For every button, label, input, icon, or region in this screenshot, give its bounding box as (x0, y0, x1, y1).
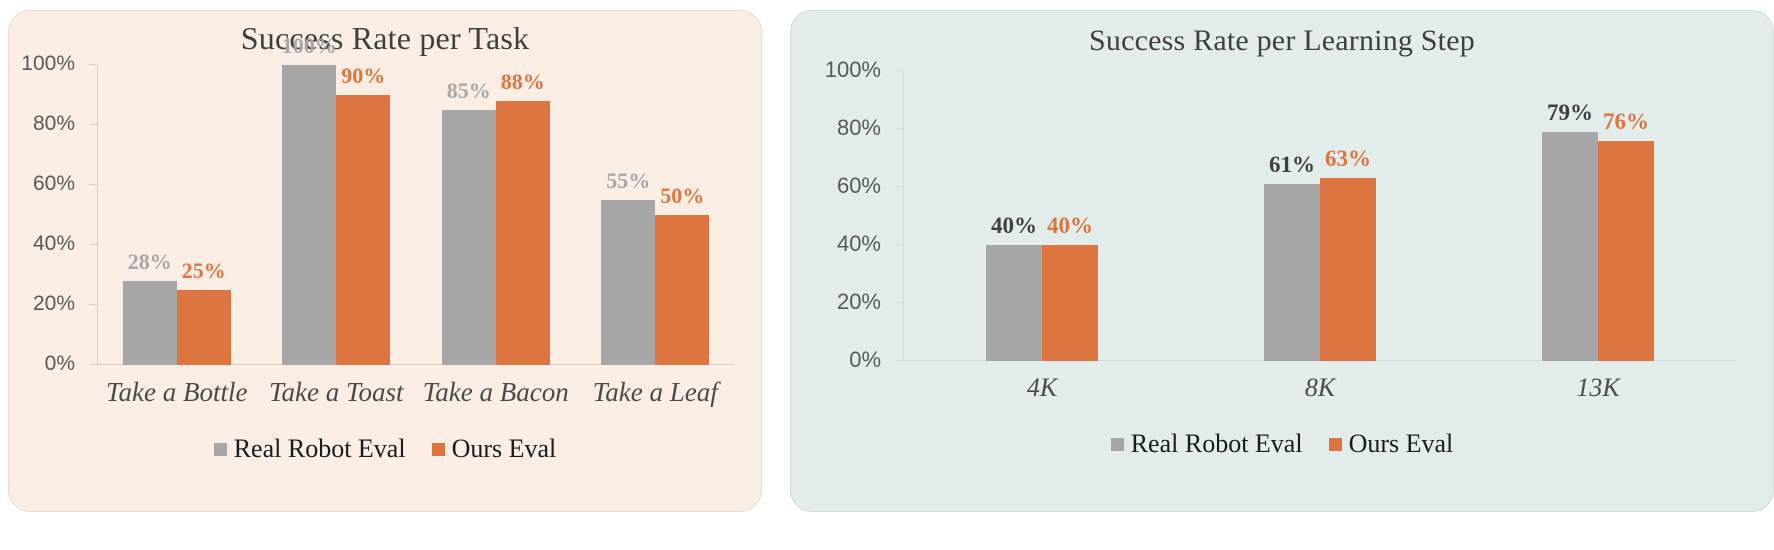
bar-slot-left-2-real: 85% (442, 65, 496, 365)
bar-value-right-0-ours: 40% (1047, 213, 1093, 239)
bar-group-right-2: 79% 76% (1459, 71, 1737, 361)
bar-slot-left-0-ours: 25% (177, 65, 231, 365)
bar-slot-left-0-real: 28% (123, 65, 177, 365)
bar-value-right-1-ours: 63% (1325, 146, 1371, 172)
legend-item-right-ours[interactable]: Ours Eval (1329, 429, 1454, 459)
bar-group-left-0: 28% 25% (97, 65, 257, 365)
y-tick-right-2: 40% (895, 244, 903, 245)
legend-label-left-real: Real Robot Eval (234, 434, 406, 464)
y-tick-right-3: 60% (895, 186, 903, 187)
bar-value-right-0-real: 40% (991, 213, 1037, 239)
chart-title-left: Success Rate per Task (9, 11, 761, 57)
chart-panel-success-rate-per-task: Success Rate per Task 0% 20% 40% 60% 80%… (8, 10, 762, 512)
legend-item-left-real[interactable]: Real Robot Eval (214, 434, 406, 464)
bar-left-3-real[interactable]: 55% (601, 200, 655, 365)
bar-left-1-ours[interactable]: 90% (336, 95, 390, 365)
y-tick-right-4: 80% (895, 128, 903, 129)
y-tick-left-1: 20% (89, 304, 97, 305)
y-tick-left-4: 80% (89, 124, 97, 125)
y-tick-label-right-5: 100% (825, 57, 881, 83)
bar-value-left-3-ours: 50% (660, 183, 704, 209)
y-tick-right-1: 20% (895, 302, 903, 303)
legend-item-right-real[interactable]: Real Robot Eval (1111, 429, 1303, 459)
legend-swatch-icon-real-left (214, 443, 227, 456)
y-tick-left-3: 60% (89, 184, 97, 185)
x-axis-labels-left: Take a Bottle Take a Toast Take a Bacon … (97, 377, 735, 408)
bar-slot-left-2-ours: 88% (496, 65, 550, 365)
y-tick-right-0: 0% (895, 360, 903, 361)
bar-value-left-1-ours: 90% (341, 63, 385, 89)
legend-label-right-real: Real Robot Eval (1131, 429, 1303, 459)
bar-value-left-3-real: 55% (606, 168, 650, 194)
bar-slot-right-1-ours: 63% (1320, 71, 1376, 361)
y-tick-label-left-1: 20% (33, 292, 75, 316)
bar-slot-right-2-real: 79% (1542, 71, 1598, 361)
y-tick-label-left-4: 80% (33, 112, 75, 136)
bar-left-2-real[interactable]: 85% (442, 110, 496, 365)
y-tick-right-5: 100% (895, 70, 903, 71)
bar-right-1-ours[interactable]: 63% (1320, 178, 1376, 361)
x-label-left-2: Take a Bacon (416, 377, 576, 408)
chart-panel-success-rate-per-learning-step: Success Rate per Learning Step 0% 20% 40… (790, 10, 1774, 512)
bar-slot-right-0-real: 40% (986, 71, 1042, 361)
bar-value-left-2-ours: 88% (501, 69, 545, 95)
x-label-right-0: 4K (903, 373, 1181, 403)
bar-value-left-0-real: 28% (128, 249, 172, 275)
bar-slot-left-3-ours: 50% (655, 65, 709, 365)
y-tick-label-right-3: 60% (837, 173, 881, 199)
y-tick-label-left-5: 100% (21, 52, 75, 76)
bar-left-3-ours[interactable]: 50% (655, 215, 709, 365)
bar-groups-left: 28% 25% 100% (97, 65, 735, 365)
legend-swatch-icon-ours-right (1329, 438, 1342, 451)
legend-left: Real Robot Eval Ours Eval (9, 434, 761, 464)
y-tick-label-right-1: 20% (837, 289, 881, 315)
bar-right-2-ours[interactable]: 76% (1598, 141, 1654, 361)
y-tick-label-left-2: 40% (33, 232, 75, 256)
bar-groups-right: 40% 40% 61% (903, 71, 1737, 361)
legend-label-left-ours: Ours Eval (452, 434, 557, 464)
y-tick-label-left-0: 0% (45, 352, 75, 376)
x-label-left-3: Take a Leaf (576, 377, 736, 408)
bar-left-0-real[interactable]: 28% (123, 281, 177, 365)
legend-label-right-ours: Ours Eval (1349, 429, 1454, 459)
bar-value-right-2-ours: 76% (1603, 109, 1649, 135)
y-tick-label-right-4: 80% (837, 115, 881, 141)
bar-left-0-ours[interactable]: 25% (177, 290, 231, 365)
bar-group-right-1: 61% 63% (1181, 71, 1459, 361)
y-tick-left-2: 40% (89, 244, 97, 245)
bar-group-right-0: 40% 40% (903, 71, 1181, 361)
bar-slot-right-1-real: 61% (1264, 71, 1320, 361)
bar-slot-right-0-ours: 40% (1042, 71, 1098, 361)
y-tick-left-5: 100% (89, 64, 97, 65)
legend-swatch-icon-ours-left (432, 443, 445, 456)
bar-right-0-ours[interactable]: 40% (1042, 245, 1098, 361)
bar-slot-left-1-ours: 90% (336, 65, 390, 365)
x-label-right-2: 13K (1459, 373, 1737, 403)
bar-right-2-real[interactable]: 79% (1542, 132, 1598, 361)
bar-slot-right-2-ours: 76% (1598, 71, 1654, 361)
x-label-left-1: Take a Toast (257, 377, 417, 408)
bar-slot-left-3-real: 55% (601, 65, 655, 365)
bar-value-left-0-ours: 25% (182, 258, 226, 284)
plot-area-right: 0% 20% 40% 60% 80% 100% (903, 71, 1737, 361)
x-label-left-0: Take a Bottle (97, 377, 257, 408)
chart-title-right: Success Rate per Learning Step (791, 11, 1773, 59)
bar-right-1-real[interactable]: 61% (1264, 184, 1320, 361)
x-label-right-1: 8K (1181, 373, 1459, 403)
charts-page: Success Rate per Task 0% 20% 40% 60% 80%… (0, 0, 1774, 550)
bar-left-1-real[interactable]: 100% (282, 65, 336, 365)
bar-group-left-2: 85% 88% (416, 65, 576, 365)
bar-right-0-real[interactable]: 40% (986, 245, 1042, 361)
legend-swatch-icon-real-right (1111, 438, 1124, 451)
y-tick-label-right-0: 0% (849, 347, 881, 373)
bar-left-2-ours[interactable]: 88% (496, 101, 550, 365)
plot-area-left: 0% 20% 40% 60% 80% 100% (97, 65, 735, 365)
bar-value-right-2-real: 79% (1547, 100, 1593, 126)
bar-group-left-1: 100% 90% (257, 65, 417, 365)
legend-right: Real Robot Eval Ours Eval (791, 429, 1773, 459)
y-tick-left-0: 0% (89, 364, 97, 365)
x-axis-labels-right: 4K 8K 13K (903, 373, 1737, 403)
bar-slot-left-1-real: 100% (282, 65, 336, 365)
bar-value-right-1-real: 61% (1269, 152, 1315, 178)
y-tick-label-left-3: 60% (33, 172, 75, 196)
y-tick-label-right-2: 40% (837, 231, 881, 257)
bar-group-left-3: 55% 50% (576, 65, 736, 365)
bar-value-left-2-real: 85% (447, 78, 491, 104)
bar-value-left-1-real: 100% (282, 33, 337, 59)
legend-item-left-ours[interactable]: Ours Eval (432, 434, 557, 464)
